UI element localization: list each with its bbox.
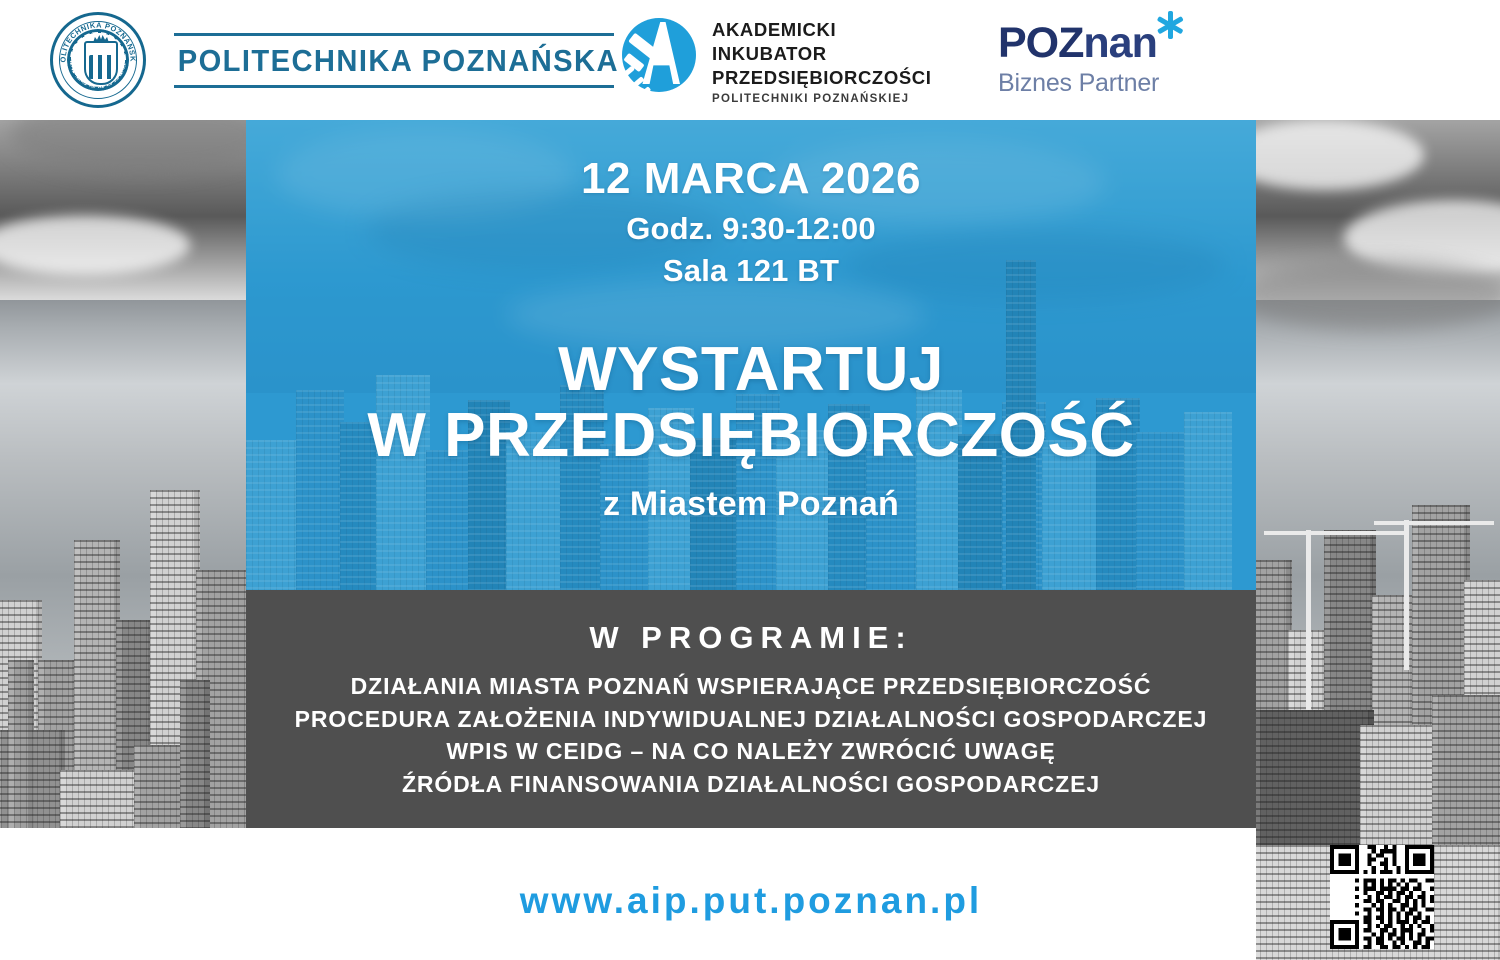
program-item: DZIAŁANIA MIASTA POZNAŃ WSPIERAJĄCE PRZE…: [246, 670, 1256, 703]
cityscape-right: [1254, 0, 1500, 960]
aip-line-1: AKADEMICKI: [712, 18, 931, 42]
crane-mast-icon: [1306, 530, 1311, 710]
program-heading: W PROGRAMIE:: [246, 590, 1256, 656]
cloud: [1254, 260, 1500, 330]
crane-jib-icon: [1374, 521, 1494, 525]
logo-poznan-biznes-partner: POZnan Biznes Partner: [998, 22, 1159, 98]
aip-subtitle: POLITECHNIKI POZNAŃSKIEJ: [712, 93, 931, 105]
aip-line-2: INKUBATOR: [712, 42, 931, 66]
event-title: WYSTARTUJ W PRZEDSIĘBIORCZOŚĆ: [246, 337, 1256, 468]
poznan-wordmark-nan: nan: [1083, 19, 1156, 67]
poznan-wordmark: POZnan: [998, 22, 1159, 65]
website-url[interactable]: www.aip.put.poznan.pl: [246, 880, 1256, 922]
divider-bottom: [174, 85, 614, 88]
program-panel: W PROGRAMIE: DZIAŁANIA MIASTA POZNAŃ WSP…: [246, 590, 1256, 828]
logo-politechnika-poznanska: POLITECHNIKA POZNAŃSKA POZNAN UNIVERSITY…: [50, 12, 647, 108]
pp-seal-icon: POLITECHNIKA POZNAŃSKA POZNAN UNIVERSITY…: [50, 12, 146, 108]
program-item: WPIS W CEIDG – NA CO NALEŻY ZWRÓCIĆ UWAG…: [246, 735, 1256, 768]
qr-code[interactable]: [1330, 845, 1434, 949]
poznan-wordmark-poz: POZ: [998, 19, 1083, 67]
event-room: Sala 121 BT: [246, 253, 1256, 289]
event-time: Godz. 9:30-12:00: [246, 211, 1256, 247]
header-logo-bar: POLITECHNIKA POZNAŃSKA POZNAN UNIVERSITY…: [0, 0, 1500, 120]
svg-text:POLITECHNIKA POZNAŃSKA: POLITECHNIKA POZNAŃSKA: [53, 15, 137, 63]
program-item: PROCEDURA ZAŁOŻENIA INDYWIDUALNEJ DZIAŁA…: [246, 703, 1256, 736]
footer-white-left: [0, 828, 246, 960]
cityscape-left: [0, 0, 250, 960]
event-subtitle: z Miastem Poznań: [246, 485, 1256, 524]
program-list: DZIAŁANIA MIASTA POZNAŃ WSPIERAJĄCE PRZE…: [246, 670, 1256, 801]
hero-content: 12 MARCA 2026 Godz. 9:30-12:00 Sala 121 …: [246, 120, 1256, 524]
qr-code-icon: [1330, 845, 1434, 949]
footer-panel: www.aip.put.poznan.pl: [246, 828, 1256, 960]
aip-line-3: PRZEDSIĘBIORCZOŚCI: [712, 66, 931, 90]
event-title-line-1: WYSTARTUJ: [558, 335, 944, 404]
crane-mast-icon: [1404, 520, 1409, 670]
event-date: 12 MARCA 2026: [246, 156, 1256, 202]
crane-jib-icon: [1264, 531, 1404, 535]
program-item: ŹRÓDŁA FINANSOWANIA DZIAŁALNOŚCI GOSPODA…: [246, 768, 1256, 801]
pp-wordmark: POLITECHNIKA POZNAŃSKA: [174, 36, 619, 85]
logo-akademicki-inkubator: AKADEMICKI INKUBATOR PRZEDSIĘBIORCZOŚCI …: [612, 14, 931, 105]
aip-rocket-icon: [612, 14, 700, 102]
hero-panel: 12 MARCA 2026 Godz. 9:30-12:00 Sala 121 …: [246, 120, 1256, 590]
event-title-line-2: W PRZEDSIĘBIORCZOŚĆ: [246, 403, 1256, 469]
asterisk-icon: [1155, 10, 1185, 40]
event-poster: POLITECHNIKA POZNAŃSKA POZNAN UNIVERSITY…: [0, 0, 1500, 960]
poznan-subtitle: Biznes Partner: [998, 69, 1159, 98]
pp-seal-text-icon: POLITECHNIKA POZNAŃSKA POZNAN UNIVERSITY…: [53, 15, 143, 105]
